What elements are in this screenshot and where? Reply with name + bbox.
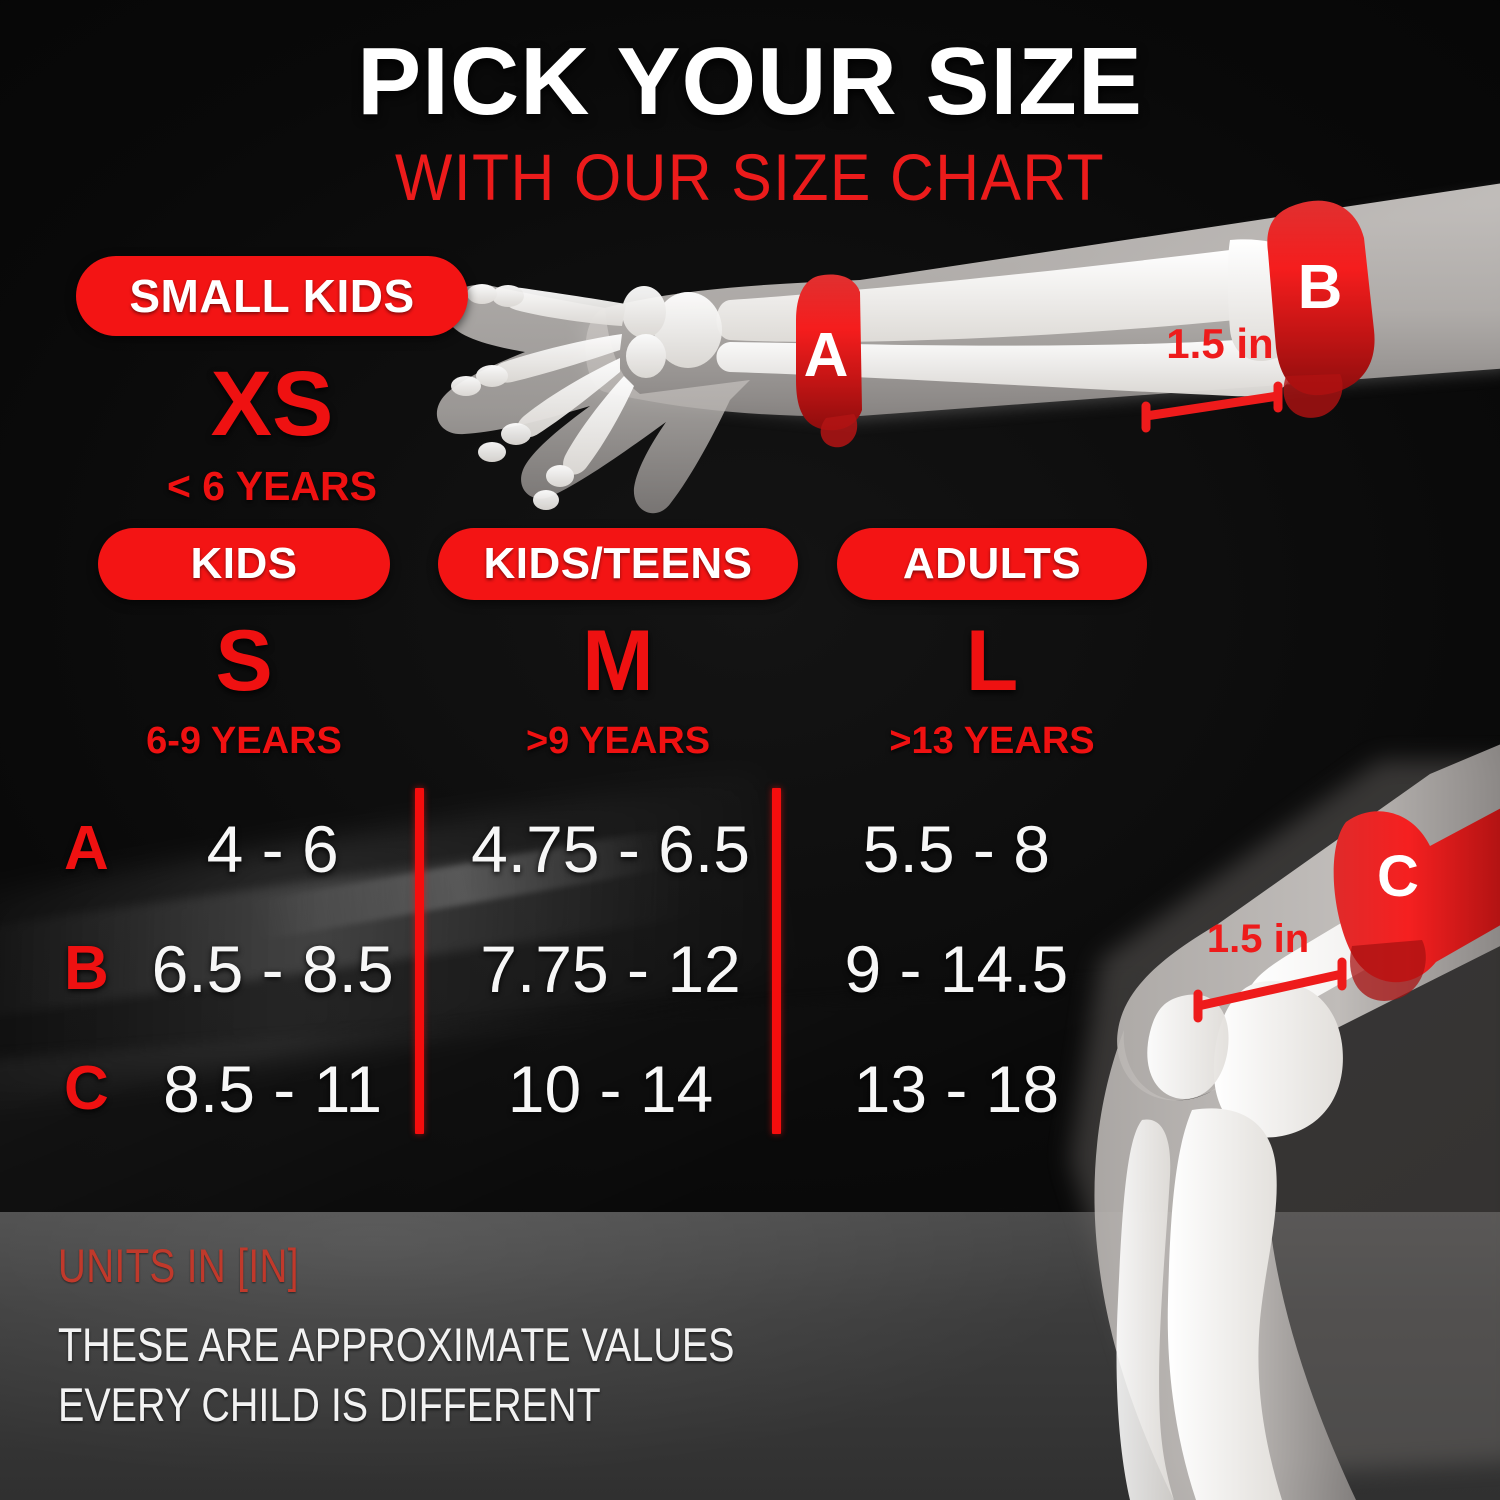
table-row: B 6.5 - 8.5 7.75 - 12 9 - 14.5 xyxy=(64,912,1104,1026)
cell-b-l: 9 - 14.5 xyxy=(809,936,1104,1002)
badge-kids-teens[interactable]: KIDS/TEENS xyxy=(438,528,798,600)
size-chart-infographic: A B 1.5 in xyxy=(0,0,1500,1500)
badge-kids-teens-label: KIDS/TEENS xyxy=(438,539,798,589)
disclaimer-line-2: EVERY CHILD IS DIFFERENT xyxy=(58,1375,898,1435)
band-b-label: B xyxy=(1298,253,1343,322)
size-label-xs: XS xyxy=(72,358,472,450)
units-note: UNITS IN [IN] xyxy=(58,1238,878,1293)
size-group-kids-teens: KIDS/TEENS M >9 YEARS xyxy=(438,528,798,760)
badge-kids[interactable]: KIDS xyxy=(98,528,390,600)
age-range-m: >9 YEARS xyxy=(438,722,798,760)
band-a-label: A xyxy=(804,321,849,390)
arm-xray-illustration: A B 1.5 in xyxy=(430,180,1500,550)
size-groups-row: KIDS S 6-9 YEARS KIDS/TEENS M >9 YEARS A… xyxy=(64,528,1174,760)
cell-c-m: 10 - 14 xyxy=(438,1056,782,1122)
title-line-1: PICK YOUR SIZE xyxy=(0,34,1500,130)
age-range-s: 6-9 YEARS xyxy=(64,722,424,760)
size-group-xs: SMALL KIDS XS < 6 YEARS xyxy=(72,256,472,507)
age-range-xs: < 6 YEARS xyxy=(72,466,472,507)
row-label-a: A xyxy=(64,818,125,880)
cell-c-s: 8.5 - 11 xyxy=(125,1056,420,1122)
column-divider-1 xyxy=(415,788,424,1134)
size-group-kids: KIDS S 6-9 YEARS xyxy=(64,528,424,760)
cell-a-l: 5.5 - 8 xyxy=(809,816,1104,882)
size-label-l: L xyxy=(812,618,1172,704)
age-range-l: >13 YEARS xyxy=(812,722,1172,760)
cell-b-s: 6.5 - 8.5 xyxy=(125,936,420,1002)
row-label-b: B xyxy=(64,938,125,1000)
title-line-2: WITH OUR SIZE CHART xyxy=(60,144,1440,210)
table-row: C 8.5 - 11 10 - 14 13 - 18 xyxy=(64,1032,1104,1146)
column-divider-2 xyxy=(772,788,781,1134)
cell-c-l: 13 - 18 xyxy=(809,1056,1104,1122)
badge-adults-label: ADULTS xyxy=(837,539,1147,589)
badge-small-kids[interactable]: SMALL KIDS xyxy=(76,256,468,336)
cell-a-m: 4.75 - 6.5 xyxy=(438,816,782,882)
cell-a-s: 4 - 6 xyxy=(125,816,420,882)
page-title: PICK YOUR SIZE WITH OUR SIZE CHART xyxy=(0,34,1500,210)
measurement-table: A 4 - 6 4.75 - 6.5 5.5 - 8 B 6.5 - 8.5 7… xyxy=(64,792,1104,1146)
table-row: A 4 - 6 4.75 - 6.5 5.5 - 8 xyxy=(64,792,1104,906)
badge-small-kids-label: SMALL KIDS xyxy=(76,269,468,323)
size-group-adults: ADULTS L >13 YEARS xyxy=(812,528,1172,760)
row-label-c: C xyxy=(64,1058,125,1120)
band-c-label: C xyxy=(1377,844,1419,909)
cell-b-m: 7.75 - 12 xyxy=(438,936,782,1002)
disclaimer-line-1: THESE ARE APPROXIMATE VALUES xyxy=(58,1315,898,1375)
badge-adults[interactable]: ADULTS xyxy=(837,528,1147,600)
size-label-s: S xyxy=(64,618,424,704)
footer-notes: UNITS IN [IN] THESE ARE APPROXIMATE VALU… xyxy=(58,1238,1058,1435)
badge-kids-label: KIDS xyxy=(98,539,390,589)
knee-measure-label: 1.5 in xyxy=(1207,917,1309,961)
arm-measure-label: 1.5 in xyxy=(1166,320,1273,367)
size-label-m: M xyxy=(438,618,798,704)
